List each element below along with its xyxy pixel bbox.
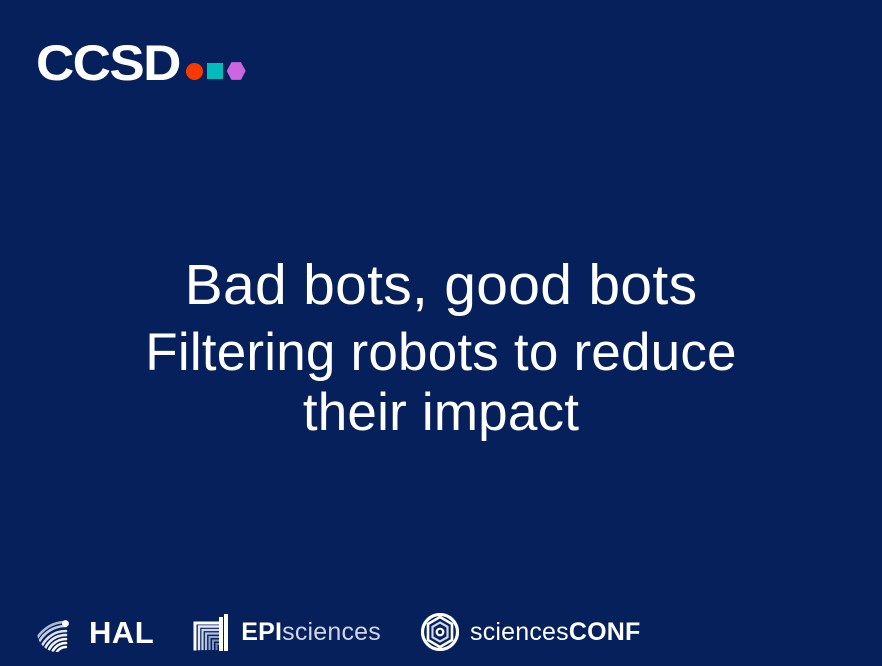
sciencesconf-label-bold: CONF xyxy=(569,618,641,646)
episciences-stack-icon xyxy=(192,613,230,651)
presentation-slide: CCSD Bad bots, good bots Filtering robot… xyxy=(0,0,882,666)
title-block: Bad bots, good bots Filtering robots to … xyxy=(0,252,882,443)
circle-icon xyxy=(186,63,203,80)
center-gear-icon xyxy=(437,629,444,636)
sciencesconf-hex-icon xyxy=(421,613,459,651)
sciencesconf-label: sciencesCONF xyxy=(470,620,641,645)
square-icon xyxy=(207,63,223,79)
logo-episciences: EPIsciences xyxy=(192,610,381,654)
slide-subtitle: Filtering robots to reduce their impact xyxy=(131,323,751,443)
sciencesconf-label-light: sciences xyxy=(470,618,569,646)
logo-hal: HAL xyxy=(36,610,154,654)
episciences-label-light: sciences xyxy=(282,618,381,646)
inner-hexagon-icon xyxy=(433,623,448,642)
hal-label: HAL xyxy=(89,617,154,648)
hal-dot-icon xyxy=(62,620,69,627)
ccsd-wordmark: CCSD xyxy=(36,38,180,88)
ccsd-logo-shapes xyxy=(186,62,246,81)
episciences-label-bold: EPI xyxy=(241,618,282,646)
footer-logo-bar: HAL EPIsciences xyxy=(36,610,641,654)
ccsd-logo: CCSD xyxy=(36,38,246,88)
slide-title: Bad bots, good bots xyxy=(70,252,812,318)
hal-arcs-icon xyxy=(36,611,78,653)
logo-sciencesconf: sciencesCONF xyxy=(421,610,641,654)
hexagon-icon xyxy=(227,62,246,81)
episciences-label: EPIsciences xyxy=(241,620,381,645)
